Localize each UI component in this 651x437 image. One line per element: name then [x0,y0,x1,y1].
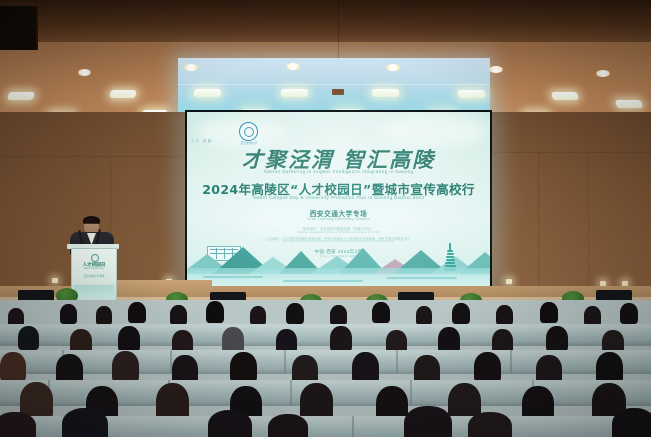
ceiling-top-band [0,0,651,42]
audience-head [0,412,36,437]
podium-artwork [74,285,114,299]
screen-calligraphy-subtitle: Talents Gathering in Jingwei Intelligenc… [187,169,490,174]
ceiling-round-light [489,66,503,73]
audience-head [452,303,470,324]
screen-cloud [377,114,487,148]
ceiling-panel-seam [178,84,490,85]
podium-title-en: Talent Campus Day [72,268,116,270]
audience-head [468,412,512,437]
audience-head [286,303,304,324]
seat-divider [510,350,512,374]
audience-head [18,326,39,350]
seat-divider [396,350,398,374]
ceiling-rect-light [7,92,35,100]
audience-area [0,300,651,437]
wall-accent-light [506,279,512,284]
screen-landscape-artwork [187,232,490,290]
audience-head [206,301,224,323]
screen-main-title-en: Talent Campus Day & University Promotion… [187,195,490,200]
audience-head [118,326,140,352]
audience-head [584,306,601,326]
ceiling-fixture-box [332,89,344,95]
audience-head [268,414,308,437]
audience-head [474,352,501,383]
audience-head [250,306,266,325]
ceiling-round-light [286,63,300,70]
ceiling-rect-light [109,90,136,98]
wall-seam [0,156,190,157]
audience-head [620,303,638,324]
ceiling-round-light [386,64,400,71]
screen-wave [387,277,457,279]
audience-head [0,352,26,382]
ceiling [0,0,651,118]
audience-head [540,302,558,323]
ceiling-rect-light [281,89,308,97]
wall-accent-light [52,278,58,283]
ceiling-rect-light [457,90,485,98]
ceiling-round-light [596,70,610,77]
audience-head [230,352,257,383]
back-wall-right [488,112,651,304]
audience-head [496,305,513,325]
audience-head [60,304,77,324]
audience-head [96,306,112,325]
screen-watermark: 人才 高陵 [191,138,213,143]
xjtu-emblem-icon [239,122,258,141]
audience-head [372,302,390,323]
screen-wave [283,280,363,282]
seat-divider [352,416,354,437]
ceiling-speaker-box [0,6,38,50]
audience-head [62,408,108,437]
screen-session-title-en: Xi'an Jiaotong University Session [187,217,490,221]
ceiling-round-light [184,64,198,71]
audience-head [546,326,568,352]
audience-head [416,306,432,325]
ceiling-vertical-seam [338,0,339,58]
podium-session: 西安交通大学专场 [72,274,116,278]
wall-seam [488,152,651,153]
audience-head [612,408,651,437]
seat-divider [284,350,286,374]
audience-head [330,326,352,352]
screen-wave [203,276,263,278]
auditorium-scene: 人才 高陵 西安交通大学 才聚泾渭 智汇高陵 Talents Gathering… [0,0,651,437]
audience-head [128,302,146,323]
ceiling-blue-panel [178,58,490,118]
seat-divider [410,380,412,406]
audience-head [112,351,139,383]
led-screen[interactable]: 人才 高陵 西安交通大学 才聚泾渭 智汇高陵 Talents Gathering… [187,112,490,290]
ceiling-rect-light [615,100,643,108]
podium-emblem-icon [91,254,99,262]
audience-head [404,406,452,437]
wall-seam [588,152,589,304]
ceiling-round-light [78,69,91,76]
audience-head [170,305,187,325]
ceiling-rect-light [194,89,222,97]
ceiling-rect-light [551,92,579,100]
wall-seam [538,152,539,304]
audience-head [330,305,347,325]
ceiling-rect-light [372,89,400,97]
seat-divider [290,380,292,406]
audience-head [208,410,252,437]
